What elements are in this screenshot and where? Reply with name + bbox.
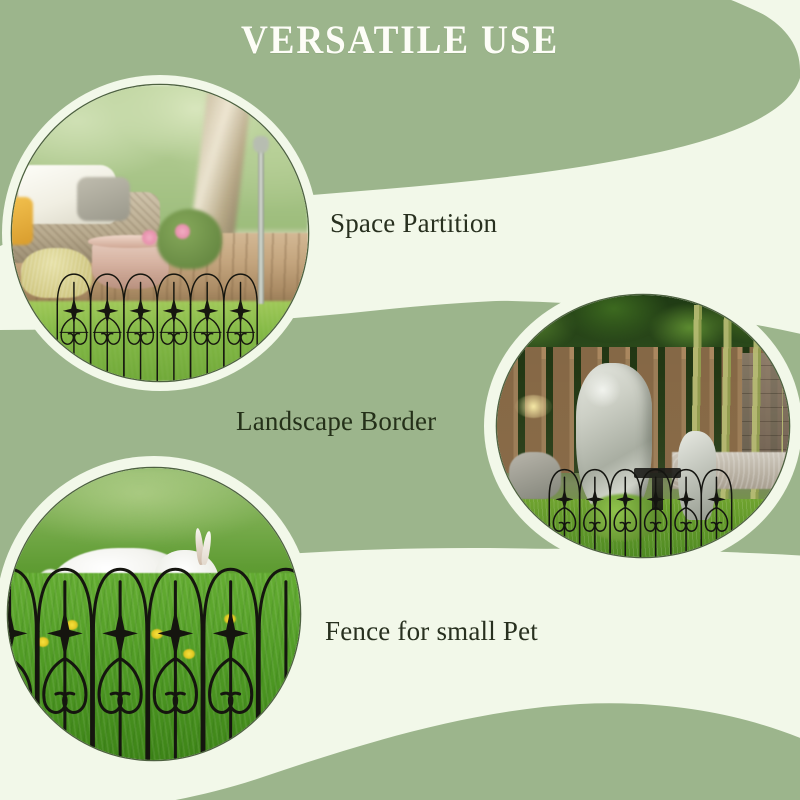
caption-space-partition: Space Partition	[330, 208, 497, 239]
boxwood-bush	[157, 209, 222, 268]
photo-1-scene	[12, 85, 308, 381]
caption-landscape-border: Landscape Border	[236, 406, 436, 437]
stone-block	[509, 452, 562, 499]
pink-flower-icon	[142, 230, 157, 245]
ornamental-rock-small	[678, 431, 716, 520]
green-blob-middle-bottom-trim	[300, 549, 800, 620]
dandelion-icon	[151, 629, 163, 639]
yellow-cushion	[12, 197, 33, 244]
ornamental-rock	[576, 363, 652, 512]
green-shrub	[585, 494, 661, 541]
photo-landscape-border	[497, 295, 789, 557]
garden-lamp-post	[258, 150, 265, 304]
decor-ball	[21, 248, 92, 298]
grey-cushion	[77, 177, 130, 221]
caption-fence-for-small-pet: Fence for small Pet	[325, 616, 538, 647]
photo-space-partition	[12, 85, 308, 381]
pink-flower-icon	[175, 224, 190, 239]
garden-lantern	[652, 478, 664, 509]
photo-2-scene	[497, 295, 789, 557]
rabbit-ear-right	[201, 531, 213, 566]
page-title: VERSATILE USE	[28, 16, 772, 63]
photo-fence-for-small-pet	[8, 468, 300, 760]
infographic-canvas: VERSATILE USE	[0, 0, 800, 800]
garden-table	[634, 468, 681, 478]
grass-foreground	[8, 573, 300, 760]
dandelion-icon	[224, 614, 236, 624]
lawn-grass	[12, 301, 308, 381]
photo-3-scene	[8, 468, 300, 760]
